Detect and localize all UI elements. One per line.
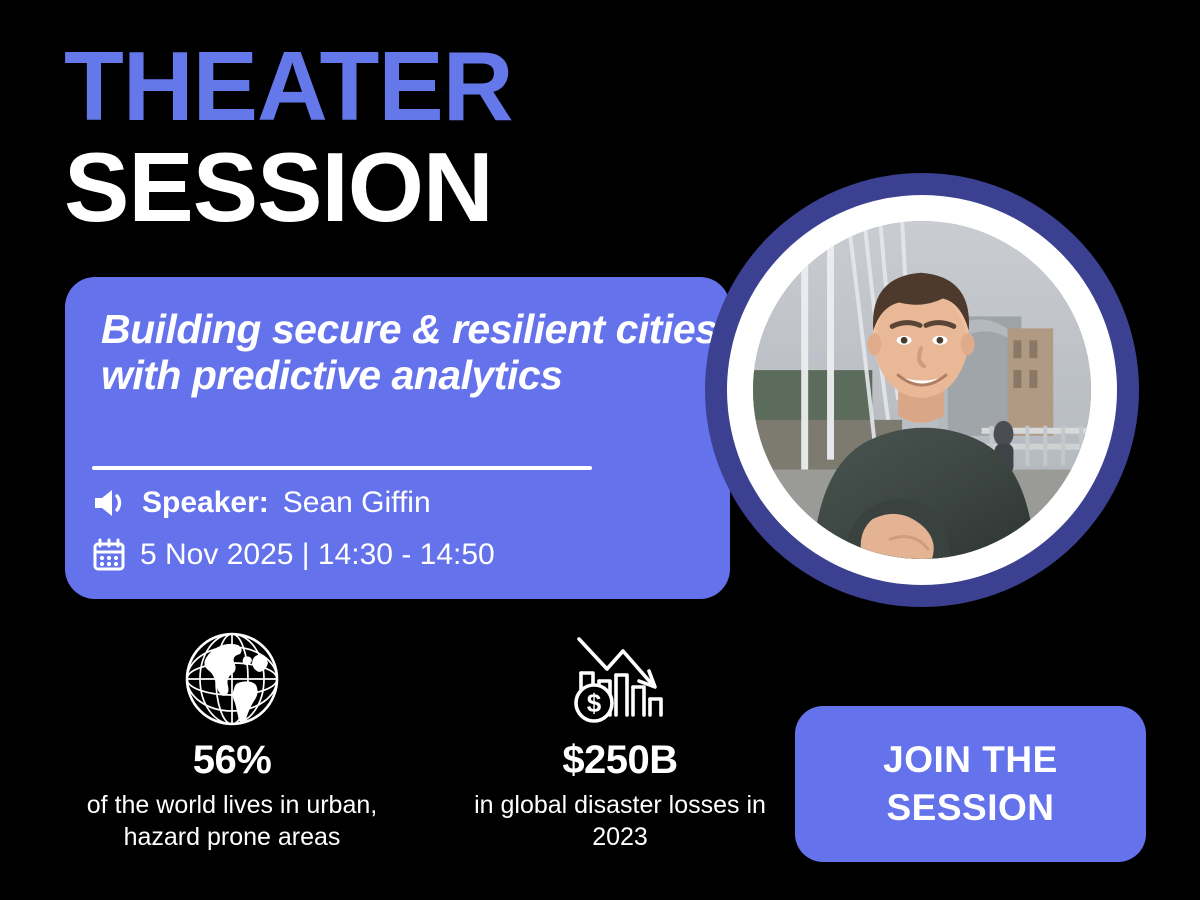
speaker-portrait [705, 173, 1139, 607]
speaker-label: Speaker: [142, 486, 269, 520]
datetime-row: 5 Nov 2025 | 14:30 - 14:50 [92, 538, 495, 572]
title-line-theater: THEATER [64, 38, 513, 134]
declining-chart-dollar-icon: $ [450, 628, 790, 730]
stat-description: of the world lives in urban, hazard pron… [62, 789, 402, 853]
join-the-session-button[interactable]: JOIN THE SESSION [795, 706, 1146, 862]
avatar [753, 221, 1091, 559]
globe-icon [62, 628, 402, 730]
stat-card-1: 56% of the world lives in urban, hazard … [62, 628, 402, 853]
cta-line-1: JOIN THE [883, 736, 1058, 784]
card-divider [92, 466, 592, 470]
stat-description: in global disaster losses in 2023 [450, 789, 790, 853]
page-title: THEATER SESSION [64, 38, 513, 236]
title-line-session: SESSION [64, 138, 513, 236]
calendar-icon [92, 538, 126, 572]
session-datetime: 5 Nov 2025 | 14:30 - 14:50 [140, 538, 495, 572]
cta-line-2: SESSION [887, 784, 1055, 832]
stat-card-2: $ $250B in global disaster losses in 202… [450, 628, 790, 853]
speaker-volume-icon [92, 487, 128, 519]
promo-poster: { "heading": { "line1": "THEATER", "line… [0, 0, 1200, 900]
session-title: Building secure & resilient cities with … [101, 307, 721, 399]
stat-value: $250B [450, 738, 790, 783]
speaker-row: Speaker: Sean Giffin [92, 486, 431, 520]
stat-value: 56% [62, 738, 402, 783]
speaker-name: Sean Giffin [283, 486, 431, 520]
svg-text:$: $ [587, 688, 602, 718]
